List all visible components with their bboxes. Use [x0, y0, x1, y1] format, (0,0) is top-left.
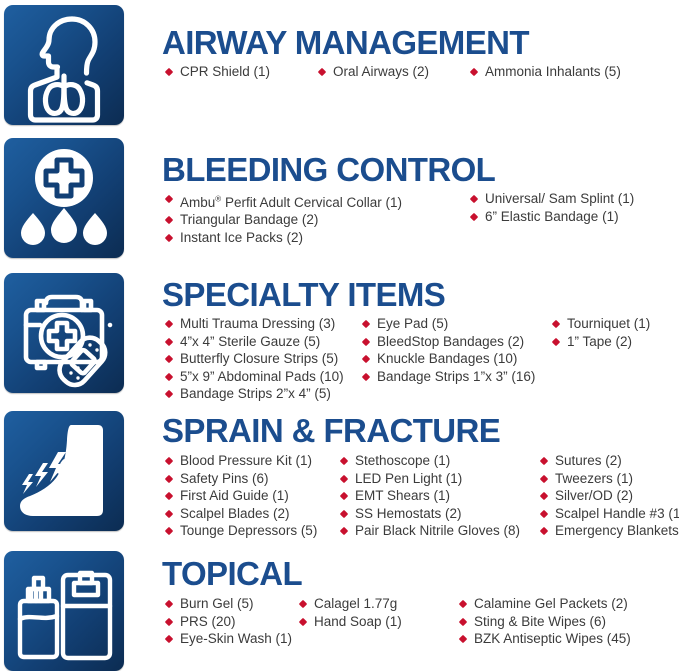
item-columns: Burn Gel (5)PRS (20)Eye-Skin Wash (1)Cal…	[162, 595, 679, 657]
list-item-label: Bandage Strips 1”x 3” (16)	[377, 369, 535, 384]
list-item: EMT Shears (1)	[340, 487, 520, 505]
list-item: Silver/OD (2)	[540, 487, 679, 505]
list-item: Calagel 1.77g	[299, 595, 402, 613]
item-list: Sutures (2)Tweezers (1)Silver/OD (2)Scal…	[540, 452, 679, 540]
diamond-bullet-icon	[340, 510, 348, 518]
list-item-label: BZK Antiseptic Wipes (45)	[474, 631, 631, 646]
medical-cross-drops-icon	[4, 138, 124, 258]
diamond-bullet-icon	[299, 600, 307, 608]
section-bleeding-control: BLEEDING CONTROL Ambu® Perfit Adult Cerv…	[0, 130, 679, 265]
list-item: Bandage Strips 2”x 4” (5)	[165, 385, 344, 403]
diamond-bullet-icon	[165, 635, 173, 643]
diamond-bullet-icon	[362, 320, 370, 328]
section-title: BLEEDING CONTROL	[162, 153, 679, 186]
diamond-bullet-icon	[165, 457, 173, 465]
diamond-bullet-icon	[165, 373, 173, 381]
list-item: 4”x 4” Sterile Gauze (5)	[165, 333, 344, 351]
list-item: Emergency Blankets	[540, 522, 679, 540]
list-item-label: 4”x 4” Sterile Gauze (5)	[180, 334, 320, 349]
list-item-label: Safety Pins (6)	[180, 471, 269, 486]
spray-bottles-icon	[4, 551, 124, 671]
list-item-label: BleedStop Bandages (2)	[377, 334, 524, 349]
list-item: Calamine Gel Packets (2)	[459, 595, 631, 613]
list-item-label: Oral Airways (2)	[333, 64, 429, 79]
list-item-label: Stethoscope (1)	[355, 453, 450, 468]
section-body-topical: TOPICAL Burn Gel (5)PRS (20)Eye-Skin Was…	[162, 557, 679, 657]
list-item: Ammonia Inhalants (5)	[470, 63, 621, 81]
injured-foot-icon	[4, 411, 124, 531]
product-contents-infographic: AIRWAY MANAGEMENT CPR Shield (1)Oral Air…	[0, 0, 679, 671]
list-item: Ambu® Perfit Adult Cervical Collar (1)	[165, 190, 402, 211]
section-title: TOPICAL	[162, 557, 679, 590]
list-item-label: Sutures (2)	[555, 453, 622, 468]
diamond-bullet-icon	[459, 635, 467, 643]
diamond-bullet-icon	[299, 617, 307, 625]
list-item-label: Tweezers (1)	[555, 471, 633, 486]
item-list: Calamine Gel Packets (2)Sting & Bite Wip…	[459, 595, 631, 648]
item-column-3: Calamine Gel Packets (2)Sting & Bite Wip…	[459, 595, 631, 648]
list-item: 5”x 9” Abdominal Pads (10)	[165, 368, 344, 386]
head-lungs-icon	[4, 5, 124, 125]
section-sprain-fracture: SPRAIN & FRACTURE Blood Pressure Kit (1)…	[0, 405, 679, 547]
list-item: SS Hemostats (2)	[340, 505, 520, 523]
item-column-3: Sutures (2)Tweezers (1)Silver/OD (2)Scal…	[540, 452, 679, 540]
list-item-label: EMT Shears (1)	[355, 488, 450, 503]
item-list: Calagel 1.77gHand Soap (1)	[299, 595, 402, 630]
list-item-label: First Aid Guide (1)	[180, 488, 289, 503]
diamond-bullet-icon	[362, 355, 370, 363]
section-specialty-items: SPECIALTY ITEMS Multi Trauma Dressing (3…	[0, 265, 679, 405]
diamond-bullet-icon	[540, 474, 548, 482]
list-item-label: Tourniquet (1)	[567, 316, 650, 331]
diamond-bullet-icon	[340, 492, 348, 500]
list-item-label: PRS (20)	[180, 614, 236, 629]
list-item: Knuckle Bandages (10)	[362, 350, 535, 368]
list-item-label: Universal/ Sam Splint (1)	[485, 191, 634, 206]
diamond-bullet-icon	[459, 600, 467, 608]
item-column-1: Ambu® Perfit Adult Cervical Collar (1)Tr…	[165, 190, 402, 246]
section-body-specialty: SPECIALTY ITEMS Multi Trauma Dressing (3…	[162, 278, 679, 410]
list-item-label: Triangular Bandage (2)	[180, 212, 318, 227]
item-list: Tourniquet (1)1” Tape (2)	[552, 315, 650, 350]
item-list: Burn Gel (5)PRS (20)Eye-Skin Wash (1)	[165, 595, 292, 648]
diamond-bullet-icon	[318, 68, 326, 76]
list-item-label: 6” Elastic Bandage (1)	[485, 209, 619, 224]
diamond-bullet-icon	[362, 373, 370, 381]
item-column-1: Burn Gel (5)PRS (20)Eye-Skin Wash (1)	[165, 595, 292, 648]
item-column-2: Stethoscope (1)LED Pen Light (1)EMT Shea…	[340, 452, 520, 540]
item-columns: CPR Shield (1)Oral Airways (2)Ammonia In…	[162, 63, 679, 93]
diamond-bullet-icon	[470, 212, 478, 220]
diamond-bullet-icon	[165, 355, 173, 363]
list-item-label: LED Pen Light (1)	[355, 471, 462, 486]
list-item-label: Emergency Blankets	[555, 523, 679, 538]
diamond-bullet-icon	[362, 337, 370, 345]
list-item-label: Pair Black Nitrile Gloves (8)	[355, 523, 520, 538]
diamond-bullet-icon	[165, 195, 173, 203]
diamond-bullet-icon	[165, 600, 173, 608]
list-item-label: Knuckle Bandages (10)	[377, 351, 517, 366]
list-item: PRS (20)	[165, 613, 292, 631]
section-body-airway: AIRWAY MANAGEMENT CPR Shield (1)Oral Air…	[162, 26, 679, 93]
list-item-label: Butterfly Closure Strips (5)	[180, 351, 338, 366]
item-columns: Blood Pressure Kit (1)Safety Pins (6)Fir…	[162, 452, 679, 548]
list-item: Eye Pad (5)	[362, 315, 535, 333]
list-item-label: Sting & Bite Wipes (6)	[474, 614, 606, 629]
item-list: Ammonia Inhalants (5)	[470, 63, 621, 81]
list-item: LED Pen Light (1)	[340, 470, 520, 488]
item-list: Stethoscope (1)LED Pen Light (1)EMT Shea…	[340, 452, 520, 540]
list-item: Scalpel Blades (2)	[165, 505, 317, 523]
list-item-label: Tounge Depressors (5)	[180, 523, 317, 538]
diamond-bullet-icon	[340, 474, 348, 482]
list-item-label: CPR Shield (1)	[180, 64, 270, 79]
item-column-2: Calagel 1.77gHand Soap (1)	[299, 595, 402, 630]
list-item: 1” Tape (2)	[552, 333, 650, 351]
list-item-label: Calamine Gel Packets (2)	[474, 596, 628, 611]
list-item-label: Scalpel Handle #3 (1)	[555, 506, 679, 521]
icon-tile-bleeding	[4, 138, 124, 258]
list-item: Butterfly Closure Strips (5)	[165, 350, 344, 368]
list-item: Universal/ Sam Splint (1)	[470, 190, 634, 208]
section-airway-management: AIRWAY MANAGEMENT CPR Shield (1)Oral Air…	[0, 0, 679, 130]
list-item-label: Ammonia Inhalants (5)	[485, 64, 621, 79]
diamond-bullet-icon	[540, 510, 548, 518]
list-item-label: 5”x 9” Abdominal Pads (10)	[180, 369, 344, 384]
diamond-bullet-icon	[165, 68, 173, 76]
diamond-bullet-icon	[165, 510, 173, 518]
list-item: Burn Gel (5)	[165, 595, 292, 613]
list-item: Bandage Strips 1”x 3” (16)	[362, 368, 535, 386]
diamond-bullet-icon	[165, 527, 173, 535]
diamond-bullet-icon	[540, 527, 548, 535]
list-item-label: Calagel 1.77g	[314, 596, 397, 611]
list-item: Oral Airways (2)	[318, 63, 429, 81]
list-item: Tounge Depressors (5)	[165, 522, 317, 540]
list-item: Sutures (2)	[540, 452, 679, 470]
diamond-bullet-icon	[165, 320, 173, 328]
list-item: Hand Soap (1)	[299, 613, 402, 631]
diamond-bullet-icon	[165, 390, 173, 398]
list-item-label: Instant Ice Packs (2)	[180, 230, 303, 245]
list-item: BleedStop Bandages (2)	[362, 333, 535, 351]
section-title: SPECIALTY ITEMS	[162, 278, 679, 311]
item-column-1: Blood Pressure Kit (1)Safety Pins (6)Fir…	[165, 452, 317, 540]
diamond-bullet-icon	[165, 492, 173, 500]
section-body-sprain: SPRAIN & FRACTURE Blood Pressure Kit (1)…	[162, 414, 679, 548]
item-list: CPR Shield (1)	[165, 63, 270, 81]
section-title: AIRWAY MANAGEMENT	[162, 26, 679, 59]
list-item-label: SS Hemostats (2)	[355, 506, 462, 521]
item-list: Multi Trauma Dressing (3)4”x 4” Sterile …	[165, 315, 344, 403]
list-item: Triangular Bandage (2)	[165, 211, 402, 229]
list-item: 6” Elastic Bandage (1)	[470, 208, 634, 226]
diamond-bullet-icon	[165, 337, 173, 345]
list-item-label: Hand Soap (1)	[314, 614, 402, 629]
list-item-label: Blood Pressure Kit (1)	[180, 453, 312, 468]
item-list: Ambu® Perfit Adult Cervical Collar (1)Tr…	[165, 190, 402, 246]
item-column-1: CPR Shield (1)	[165, 63, 270, 81]
item-columns: Ambu® Perfit Adult Cervical Collar (1)Tr…	[162, 190, 679, 252]
section-topical: TOPICAL Burn Gel (5)PRS (20)Eye-Skin Was…	[0, 547, 679, 671]
list-item: Stethoscope (1)	[340, 452, 520, 470]
list-item-label: Scalpel Blades (2)	[180, 506, 290, 521]
diamond-bullet-icon	[165, 216, 173, 224]
list-item-label: Eye-Skin Wash (1)	[180, 631, 292, 646]
list-item-label: 1” Tape (2)	[567, 334, 632, 349]
diamond-bullet-icon	[459, 617, 467, 625]
diamond-bullet-icon	[165, 474, 173, 482]
diamond-bullet-icon	[165, 617, 173, 625]
icon-tile-airway	[4, 5, 124, 125]
icon-tile-sprain	[4, 411, 124, 531]
item-column-2: Oral Airways (2)	[318, 63, 429, 81]
list-item: Multi Trauma Dressing (3)	[165, 315, 344, 333]
section-title: SPRAIN & FRACTURE	[162, 414, 679, 447]
diamond-bullet-icon	[165, 233, 173, 241]
item-column-2: Universal/ Sam Splint (1)6” Elastic Band…	[470, 190, 634, 225]
list-item: Instant Ice Packs (2)	[165, 229, 402, 247]
item-list: Blood Pressure Kit (1)Safety Pins (6)Fir…	[165, 452, 317, 540]
list-item-label: Multi Trauma Dressing (3)	[180, 316, 335, 331]
diamond-bullet-icon	[552, 320, 560, 328]
item-column-3: Tourniquet (1)1” Tape (2)	[552, 315, 650, 350]
item-list: Universal/ Sam Splint (1)6” Elastic Band…	[470, 190, 634, 225]
item-column-1: Multi Trauma Dressing (3)4”x 4” Sterile …	[165, 315, 344, 403]
list-item: Tourniquet (1)	[552, 315, 650, 333]
diamond-bullet-icon	[470, 68, 478, 76]
diamond-bullet-icon	[340, 457, 348, 465]
list-item: First Aid Guide (1)	[165, 487, 317, 505]
list-item: BZK Antiseptic Wipes (45)	[459, 630, 631, 648]
list-item: Blood Pressure Kit (1)	[165, 452, 317, 470]
item-columns: Multi Trauma Dressing (3)4”x 4” Sterile …	[162, 315, 679, 410]
item-list: Oral Airways (2)	[318, 63, 429, 81]
list-item: Eye-Skin Wash (1)	[165, 630, 292, 648]
list-item: Pair Black Nitrile Gloves (8)	[340, 522, 520, 540]
item-column-3: Ammonia Inhalants (5)	[470, 63, 621, 81]
diamond-bullet-icon	[540, 457, 548, 465]
icon-tile-specialty	[4, 273, 124, 393]
list-item-label: Burn Gel (5)	[180, 596, 254, 611]
list-item: Scalpel Handle #3 (1)	[540, 505, 679, 523]
list-item: Safety Pins (6)	[165, 470, 317, 488]
list-item-label: Ambu® Perfit Adult Cervical Collar (1)	[180, 195, 402, 210]
diamond-bullet-icon	[470, 195, 478, 203]
list-item-label: Eye Pad (5)	[377, 316, 448, 331]
list-item-label: Bandage Strips 2”x 4” (5)	[180, 386, 331, 401]
section-body-bleeding: BLEEDING CONTROL Ambu® Perfit Adult Cerv…	[162, 153, 679, 252]
item-column-2: Eye Pad (5)BleedStop Bandages (2)Knuckle…	[362, 315, 535, 385]
diamond-bullet-icon	[340, 527, 348, 535]
list-item: Sting & Bite Wipes (6)	[459, 613, 631, 631]
first-aid-kit-bandage-icon	[4, 273, 124, 393]
list-item: CPR Shield (1)	[165, 63, 270, 81]
item-list: Eye Pad (5)BleedStop Bandages (2)Knuckle…	[362, 315, 535, 385]
icon-tile-topical	[4, 551, 124, 671]
list-item: Tweezers (1)	[540, 470, 679, 488]
list-item-label: Silver/OD (2)	[555, 488, 633, 503]
diamond-bullet-icon	[540, 492, 548, 500]
diamond-bullet-icon	[552, 337, 560, 345]
